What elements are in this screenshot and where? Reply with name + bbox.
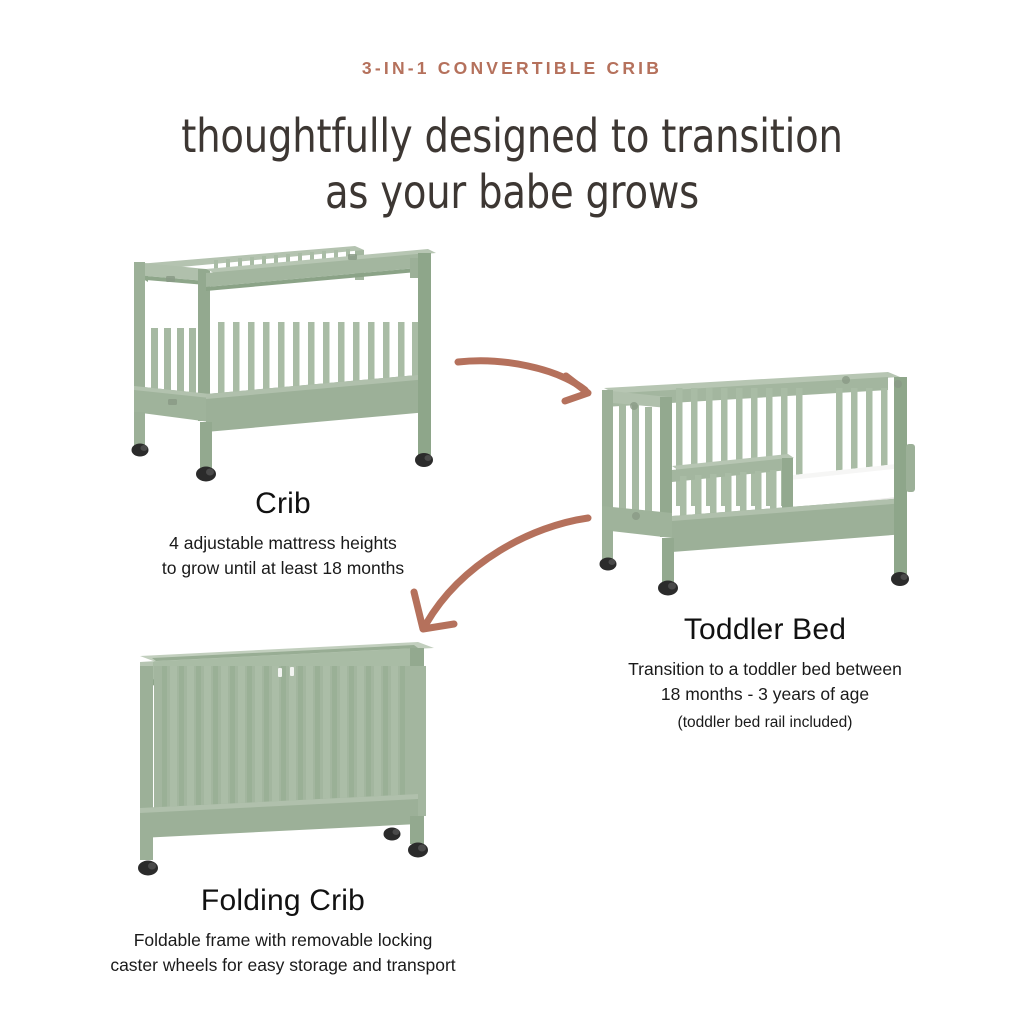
folding-crib-section-description: Foldable frame with removable locking ca… (53, 928, 513, 978)
crib-desc-line-1: 4 adjustable mattress heights (169, 533, 397, 553)
toddler-desc-line-2: 18 months - 3 years of age (661, 684, 869, 704)
crib-section-description: 4 adjustable mattress heights to grow un… (73, 531, 493, 581)
headline-line-2: as your babe grows (36, 164, 988, 220)
toddler-bed-section-title: Toddler Bed (575, 613, 955, 647)
toddler-desc-line-1: Transition to a toddler bed between (628, 659, 902, 679)
eyebrow-label: 3-IN-1 CONVERTIBLE CRIB (0, 58, 1024, 79)
folding-desc-line-1: Foldable frame with removable locking (134, 930, 433, 950)
arrow-crib-to-toddler-icon (452, 348, 612, 410)
toddler-bed-illustration (588, 366, 950, 614)
headline-line-1: thoughtfully designed to transition (181, 109, 842, 163)
folding-crib-illustration (118, 636, 448, 884)
infographic-page: 3-IN-1 CONVERTIBLE CRIB thoughtfully des… (0, 0, 1024, 1024)
crib-desc-line-2: to grow until at least 18 months (162, 558, 404, 578)
crib-illustration (118, 236, 458, 486)
toddler-desc-note: (toddler bed rail included) (565, 712, 965, 734)
toddler-bed-section-description: Transition to a toddler bed between 18 m… (565, 657, 965, 735)
page-title: thoughtfully designed to transition as y… (36, 108, 988, 220)
folding-desc-line-2: caster wheels for easy storage and trans… (110, 955, 455, 975)
crib-section-title: Crib (93, 487, 473, 521)
caster-wheel (132, 444, 434, 482)
folding-crib-section-title: Folding Crib (93, 884, 473, 918)
